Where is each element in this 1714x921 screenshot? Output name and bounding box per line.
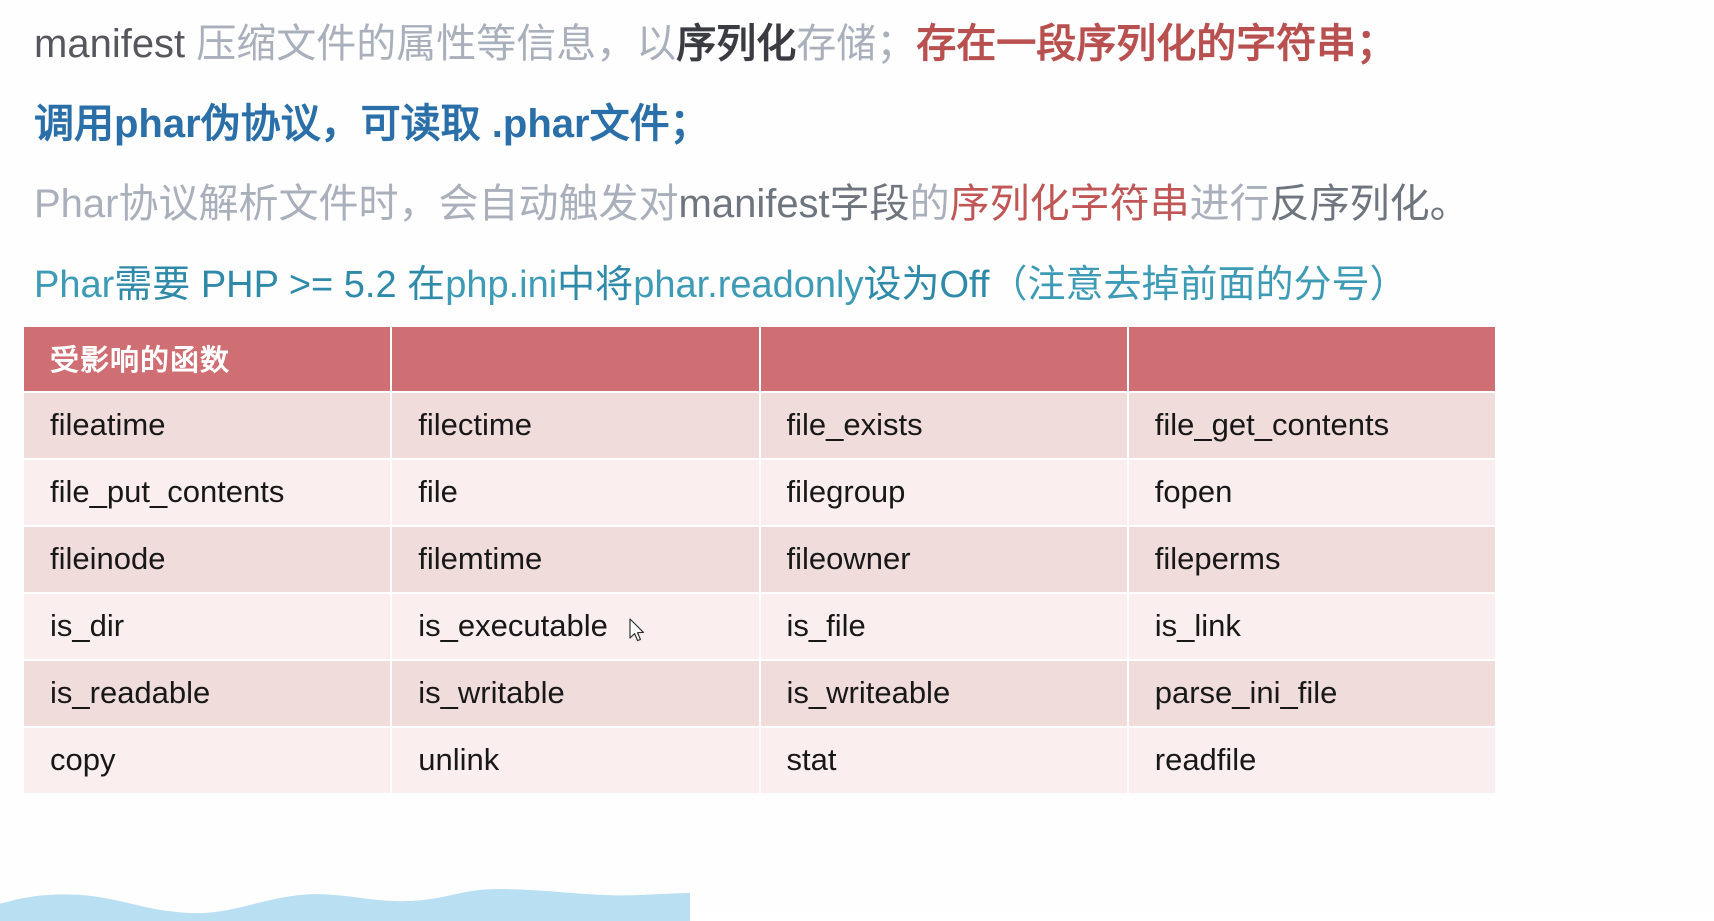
- line3-segment-perform: 进行: [1190, 182, 1270, 226]
- table-cell: is_writable: [392, 661, 758, 726]
- table-cell: fileinode: [24, 527, 390, 592]
- text-line-4: Phar需要 PHP >= 5.2 在php.ini中将phar.readonl…: [34, 266, 1408, 304]
- slide-canvas: manifest 压缩文件的属性等信息，以序列化存储；存在一段序列化的字符串； …: [0, 0, 1714, 915]
- line3-segment-deserialize: 反序列化。: [1270, 182, 1470, 226]
- table-cell: file_exists: [761, 393, 1127, 458]
- line1-segment-desc: 压缩文件的属性等信息，以: [196, 22, 676, 66]
- line4-segment-note: （注意去掉前面的分号）: [989, 264, 1407, 306]
- table-row: fileinode filemtime fileowner fileperms: [24, 527, 1495, 592]
- text-line-3: Phar协议解析文件时，会自动触发对manifest字段的序列化字符串进行反序列…: [34, 184, 1470, 224]
- table-cell: is_writeable: [761, 661, 1127, 726]
- table-cell: is_dir: [24, 594, 390, 659]
- text-line-2: 调用phar伪协议，可读取 .phar文件；: [34, 104, 710, 144]
- table-cell: fileperms: [1129, 527, 1495, 592]
- table-header-cell-1: [392, 327, 758, 391]
- table-cell: is_file: [761, 594, 1127, 659]
- table-cell: is_executable: [392, 594, 758, 659]
- table-cell: filemtime: [392, 527, 758, 592]
- table-row: fileatime filectime file_exists file_get…: [24, 393, 1495, 458]
- table-cell: fopen: [1129, 460, 1495, 525]
- table-row: file_put_contents file filegroup fopen: [24, 460, 1495, 525]
- text-line-1: manifest 压缩文件的属性等信息，以序列化存储；存在一段序列化的字符串；: [34, 24, 1396, 64]
- table-cell: is_readable: [24, 661, 390, 726]
- line3-segment-phar: Phar: [34, 182, 119, 226]
- table-cell: is_link: [1129, 594, 1495, 659]
- line4-segment-require: 需要 PHP >= 5.2: [114, 264, 407, 306]
- table-cell: filectime: [392, 393, 758, 458]
- table-row: is_readable is_writable is_writeable par…: [24, 661, 1495, 726]
- line4-segment-set: 中将: [557, 264, 633, 306]
- line4-segment-off: 设为Off: [863, 264, 989, 306]
- table-header-cell-0: 受影响的函数: [24, 327, 390, 391]
- table-cell: copy: [24, 728, 390, 793]
- table-row: copy unlink stat readfile: [24, 728, 1495, 793]
- line2-segment-phar-protocol: 调用phar伪协议，可读取 .phar文件；: [34, 102, 710, 146]
- line4-segment-phar: Phar: [34, 264, 114, 306]
- line3-segment-de: 的: [910, 182, 950, 226]
- table-header-cell-2: [761, 327, 1127, 391]
- table-cell: parse_ini_file: [1129, 661, 1495, 726]
- line4-segment-readonly: phar.readonly: [633, 264, 863, 306]
- table-cell: file_put_contents: [24, 460, 390, 525]
- line3-segment-parse: 协议解析文件时，会自动触发对: [119, 182, 679, 226]
- table-cell: readfile: [1129, 728, 1495, 793]
- line4-segment-at: 在: [407, 264, 445, 306]
- line1-segment-store: 存储；: [796, 22, 916, 66]
- table-row: is_dir is_executable is_file is_link: [24, 594, 1495, 659]
- table-cell: stat: [761, 728, 1127, 793]
- table-cell: fileowner: [761, 527, 1127, 592]
- table-cell: filegroup: [761, 460, 1127, 525]
- line1-segment-manifest: manifest: [34, 22, 196, 66]
- line1-segment-highlight: 存在一段序列化的字符串；: [916, 22, 1396, 66]
- line4-segment-phpini: php.ini: [445, 264, 557, 306]
- table-header-row: 受影响的函数: [24, 327, 1495, 391]
- affected-functions-table: 受影响的函数 fileatime filectime file_exists f…: [22, 325, 1497, 795]
- line3-segment-serialized-string: 序列化字符串: [950, 182, 1190, 226]
- line3-segment-manifest-field: manifest字段: [679, 182, 910, 226]
- table-cell: unlink: [392, 728, 758, 793]
- wave-decoration-icon: [0, 881, 690, 921]
- line1-segment-serialize: 序列化: [676, 22, 796, 66]
- table-cell: file: [392, 460, 758, 525]
- table-cell: file_get_contents: [1129, 393, 1495, 458]
- table-header-cell-3: [1129, 327, 1495, 391]
- table-cell: fileatime: [24, 393, 390, 458]
